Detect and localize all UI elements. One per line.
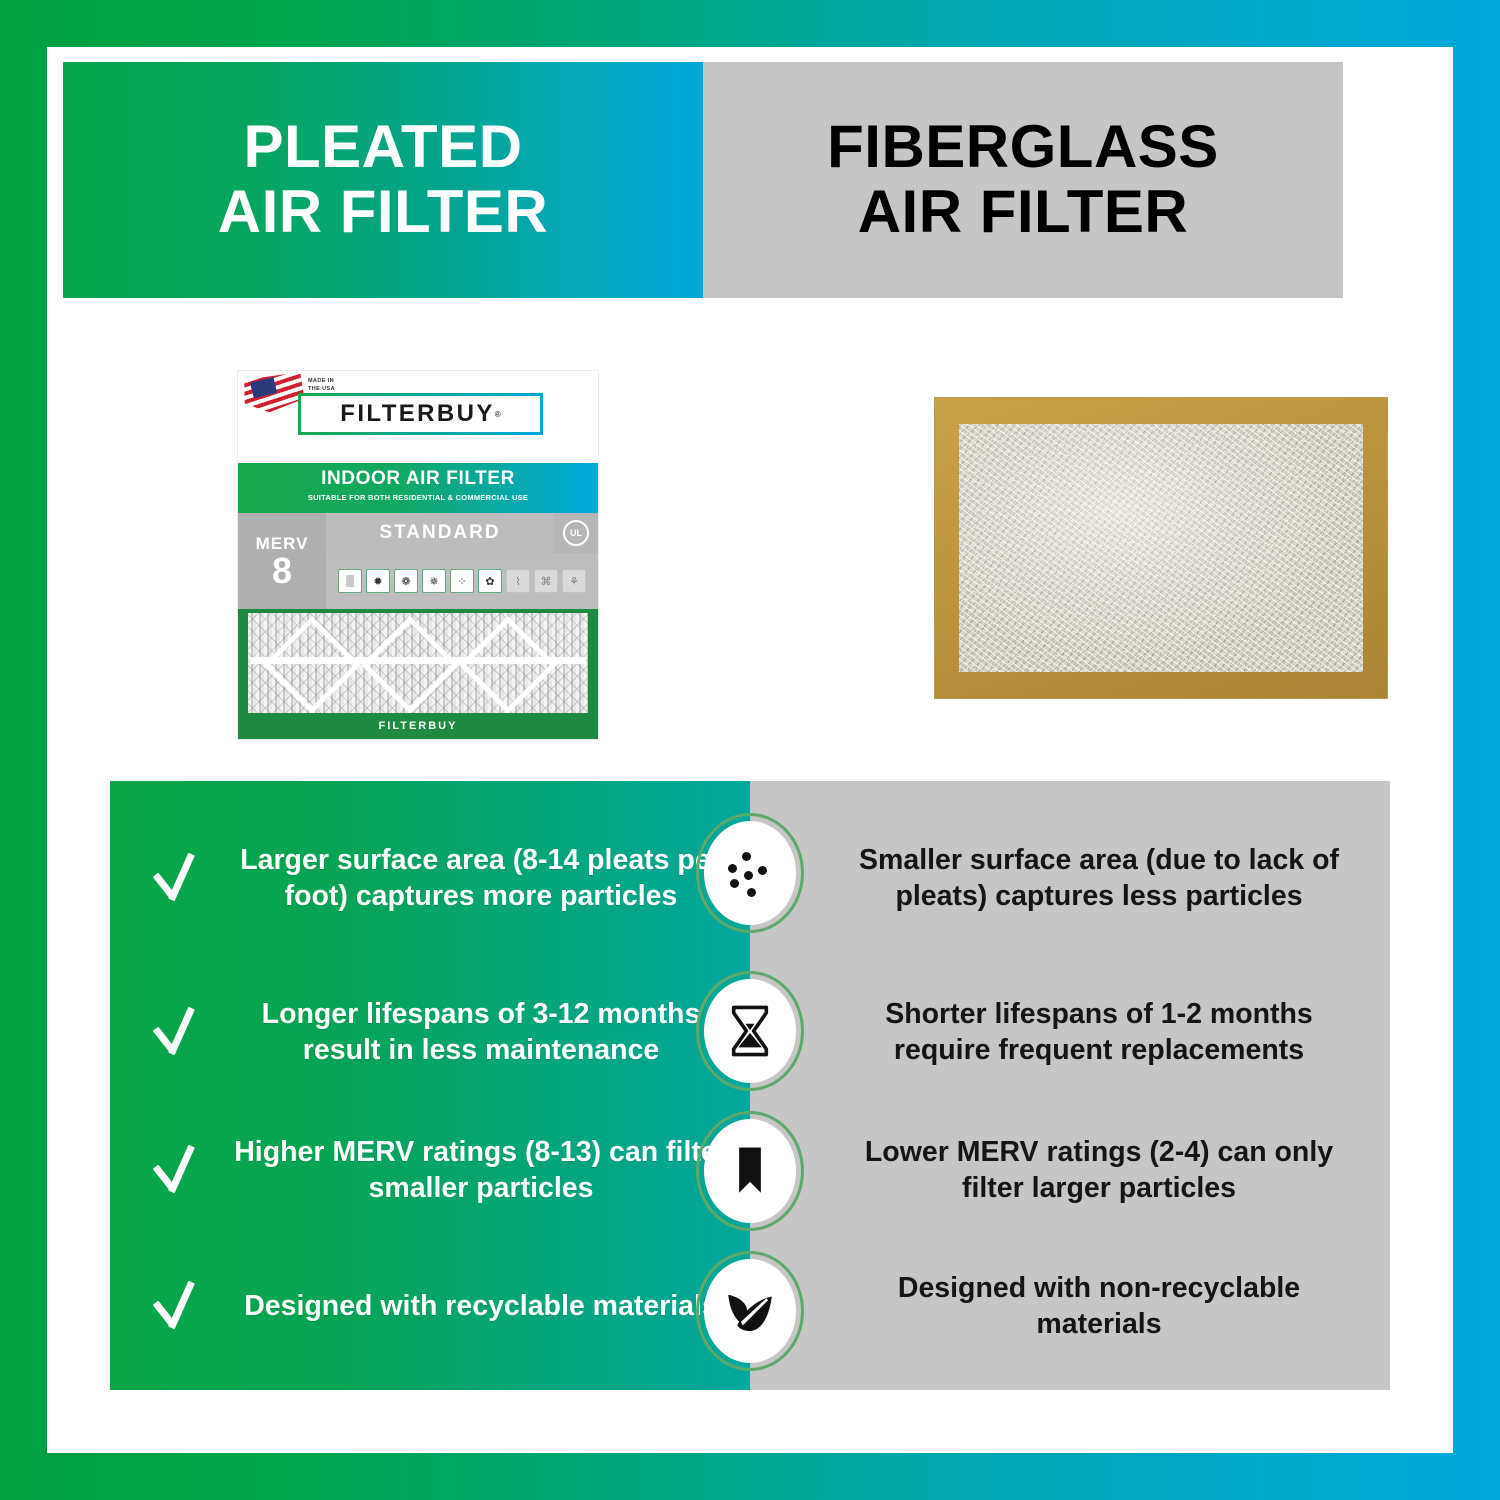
bacteria-icon: ⌘ [534,569,558,593]
header-fiberglass-line2: AIR FILTER [858,178,1189,245]
filterbuy-logo-frame: FILTERBUY® [298,393,543,435]
row-1-pleated-text: Larger surface area (8-14 pleats per foo… [228,843,734,915]
pleated-media-illustration: FILTERBUY [238,609,598,739]
particle-dot [728,864,737,873]
row-4-fiberglass-text: Designed with non-recyclable materials [846,1271,1352,1343]
row-4-fiberglass-cell: Designed with non-recyclable materials [750,1271,1390,1343]
dust-lint-icon: ▒ [338,569,362,593]
header-fiberglass-line1: FIBERGLASS [827,113,1219,180]
leaf-eco-icon [696,1251,804,1371]
comparison-panel: Larger surface area (8-14 pleats per foo… [110,781,1390,1390]
row-2-pleated-text: Longer lifespans of 3-12 months result i… [228,997,734,1069]
box-spec-section: MERV 8 STANDARD UL ▒ ✹ ❁ [238,513,598,609]
bookmark-icon [696,1111,804,1231]
pet-dander-icon: ✿ [478,569,502,593]
header-pleated-line2: AIR FILTER [218,178,549,245]
box-spec-right-column: STANDARD UL ▒ ✹ ❁ ✵ ⁘ ✿ ⌇ [326,513,598,609]
header-pleated-title: PLEATED AIR FILTER [218,115,549,245]
hourglass-icon [696,971,804,1091]
medallion-face-1 [704,821,796,925]
check-icon-2 [148,1004,206,1062]
particle-dot [744,871,753,880]
row-3-pleated-cell: Higher MERV ratings (8-13) can filter sm… [110,1135,750,1207]
comparison-infographic: PLEATED AIR FILTER FIBERGLASS AIR FILTER… [0,0,1500,1500]
product-cell-pleated: MADE IN THE USA FILTERBUY® INDOOR AIR FI… [63,298,703,730]
header-pleated-line1: PLEATED [243,113,522,180]
check-icon-4 [148,1278,206,1336]
particle-dot [747,888,756,897]
row-1-fiberglass-cell: Smaller surface area (due to lack of ple… [750,843,1390,915]
row-3-pleated-text: Higher MERV ratings (8-13) can filter sm… [228,1135,734,1207]
capability-icon-row: ▒ ✹ ❁ ✵ ⁘ ✿ ⌇ ⌘ ⚘ [326,553,598,609]
ul-certification: UL [554,513,598,553]
dust-mites-icon: ✵ [422,569,446,593]
particle-dot [758,866,767,875]
product-images-row: MADE IN THE USA FILTERBUY® INDOOR AIR FI… [63,298,1343,730]
filterbuy-wordmark: FILTERBUY [340,400,494,428]
ul-mark-icon: UL [563,520,589,546]
header-fiberglass: FIBERGLASS AIR FILTER [703,62,1343,298]
row-4-pleated-text: Designed with recyclable materials [228,1289,734,1325]
smoke-icon: ⌇ [506,569,530,593]
header-band: PLEATED AIR FILTER FIBERGLASS AIR FILTER [63,62,1343,298]
particle-dot [730,879,739,888]
lint-icon: ⁘ [450,569,474,593]
row-4-pleated-cell: Designed with recyclable materials [110,1278,750,1336]
made-in-usa-text: MADE IN THE USA [308,377,335,394]
medallion-face-2 [704,979,796,1083]
header-pleated: PLEATED AIR FILTER [63,62,703,298]
medallion-face-3 [704,1119,796,1223]
leaf-eco-glyph [721,1282,779,1340]
flag-canton [250,377,277,398]
row-2-fiberglass-cell: Shorter lifespans of 1-2 months require … [750,997,1390,1069]
bookmark-glyph [721,1142,779,1200]
band-sub-text: SUITABLE FOR BOTH RESIDENTIAL & COMMERCI… [238,493,598,502]
check-icon-3 [148,1142,206,1200]
fiberglass-filter-image [935,398,1387,698]
band-main-text: INDOOR AIR FILTER [238,468,598,490]
registered-mark: ® [495,410,501,419]
made-in-line1: MADE IN [308,377,335,385]
row-2-pleated-cell: Longer lifespans of 3-12 months result i… [110,997,750,1069]
pollen-icon: ✹ [366,569,390,593]
tier-label: STANDARD [326,513,554,553]
particles-icon [696,813,804,933]
hourglass-glyph [721,1002,779,1060]
check-icon-1 [148,850,206,908]
tier-row: STANDARD UL [326,513,598,553]
header-fiberglass-title: FIBERGLASS AIR FILTER [827,115,1219,245]
row-3-fiberglass-text: Lower MERV ratings (2-4) can only filter… [846,1135,1352,1207]
merv-badge: MERV 8 [238,513,326,609]
mold-icon: ❁ [394,569,418,593]
row-1-pleated-cell: Larger surface area (8-14 pleats per foo… [110,843,750,915]
box-footer-brand: FILTERBUY [238,713,598,739]
row-1-fiberglass-text: Smaller surface area (due to lack of ple… [846,843,1352,915]
box-top-section: MADE IN THE USA FILTERBUY® [238,371,598,463]
product-cell-fiberglass [703,298,1343,730]
merv-value: 8 [272,554,292,588]
filterbuy-box-image: MADE IN THE USA FILTERBUY® INDOOR AIR FI… [238,371,598,739]
usa-flag-icon [243,372,306,414]
particle-dot [742,852,751,861]
row-2-fiberglass-text: Shorter lifespans of 1-2 months require … [846,997,1352,1069]
particle-dots [720,844,780,902]
medallion-face-4 [704,1259,796,1363]
virus-icon: ⚘ [562,569,586,593]
fiberglass-media-texture [959,424,1363,672]
indoor-air-filter-band: INDOOR AIR FILTER SUITABLE FOR BOTH RESI… [238,463,598,513]
row-3-fiberglass-cell: Lower MERV ratings (2-4) can only filter… [750,1135,1390,1207]
